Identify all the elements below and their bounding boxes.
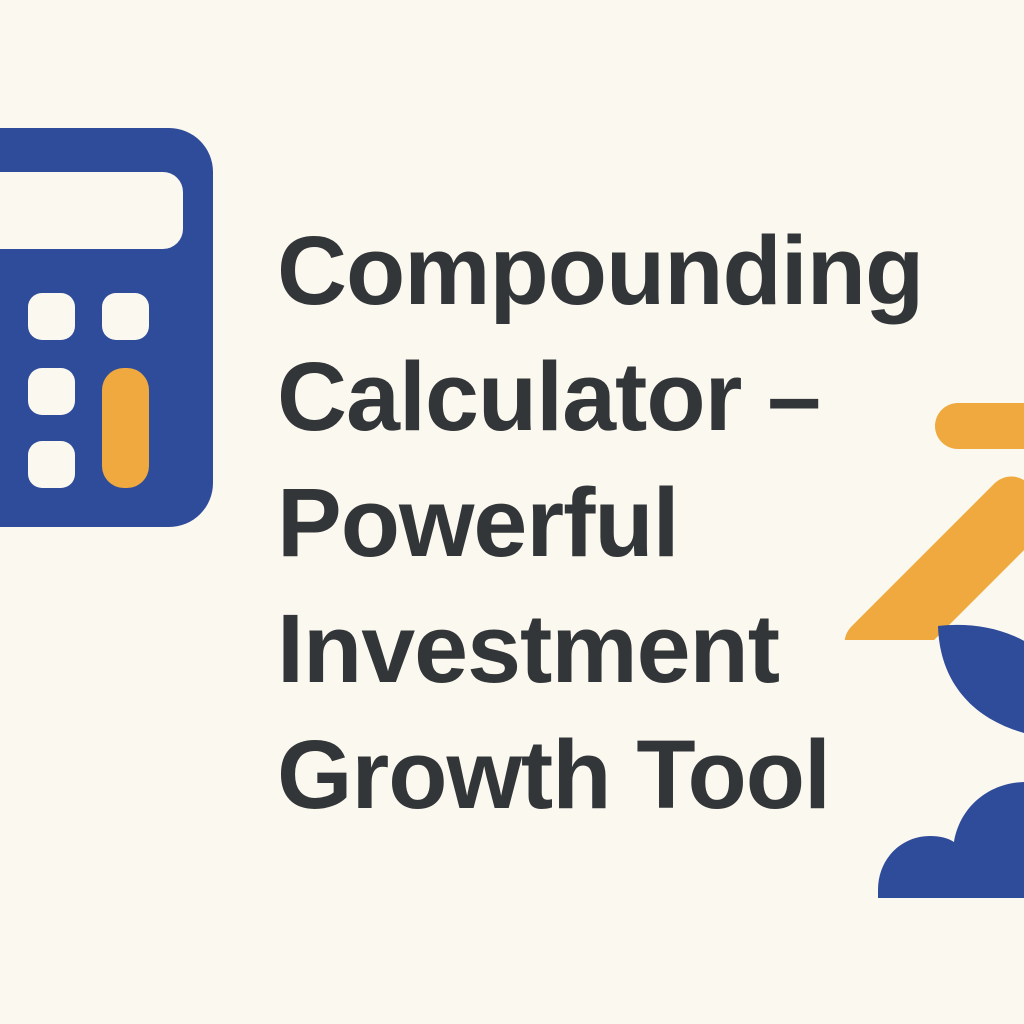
hill-icon <box>878 778 1024 898</box>
calculator-key <box>102 293 149 340</box>
calculator-screen <box>0 172 183 249</box>
page-title: Compounding Calculator – Powerful Invest… <box>277 208 897 838</box>
calculator-icon <box>0 128 213 527</box>
title-line: Calculator – <box>277 334 897 460</box>
banner-hero: Compounding Calculator – Powerful Invest… <box>0 0 1024 1024</box>
calculator-key <box>28 441 75 488</box>
title-line: Growth Tool <box>277 712 897 838</box>
calculator-key <box>28 293 75 340</box>
leaf-icon <box>930 612 1024 762</box>
calculator-key <box>28 368 75 415</box>
title-line: Compounding <box>277 208 897 334</box>
calculator-equals-key <box>102 368 149 488</box>
growth-arrow-icon <box>840 395 1024 640</box>
title-line: Investment <box>277 586 897 712</box>
title-line: Powerful <box>277 460 897 586</box>
